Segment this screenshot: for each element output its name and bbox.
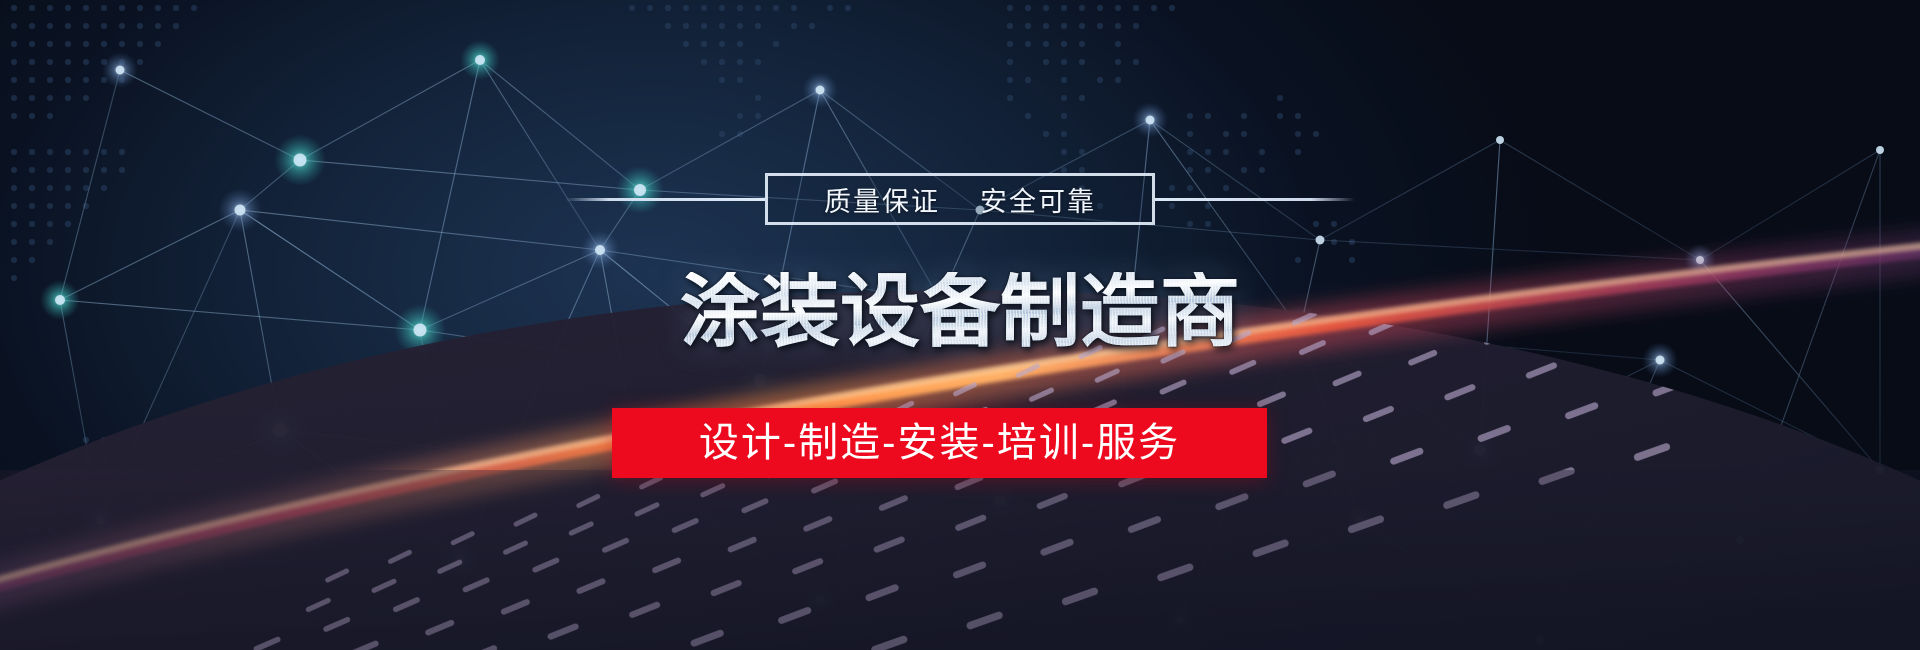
subtitle-row: 质量保证 安全可靠 xyxy=(0,172,1920,226)
subtitle-item-quality: 质量保证 xyxy=(824,180,940,219)
page-title: 涂装设备制造商 xyxy=(680,272,1240,352)
rule-left xyxy=(565,198,765,201)
rule-right xyxy=(1155,198,1355,201)
services-banner: 设计-制造-安装-培训-服务 xyxy=(612,408,1267,478)
subtitle-box: 质量保证 安全可靠 xyxy=(765,173,1155,225)
subtitle-item-safety: 安全可靠 xyxy=(980,180,1096,219)
page-title-wrap: 涂装设备制造商 xyxy=(0,262,1920,362)
services-banner-text: 设计-制造-安装-培训-服务 xyxy=(699,423,1180,463)
hero-banner: 质量保证 安全可靠 涂装设备制造商 涂装设备制造商 设计-制造-安装-培训-服务 xyxy=(0,0,1920,650)
